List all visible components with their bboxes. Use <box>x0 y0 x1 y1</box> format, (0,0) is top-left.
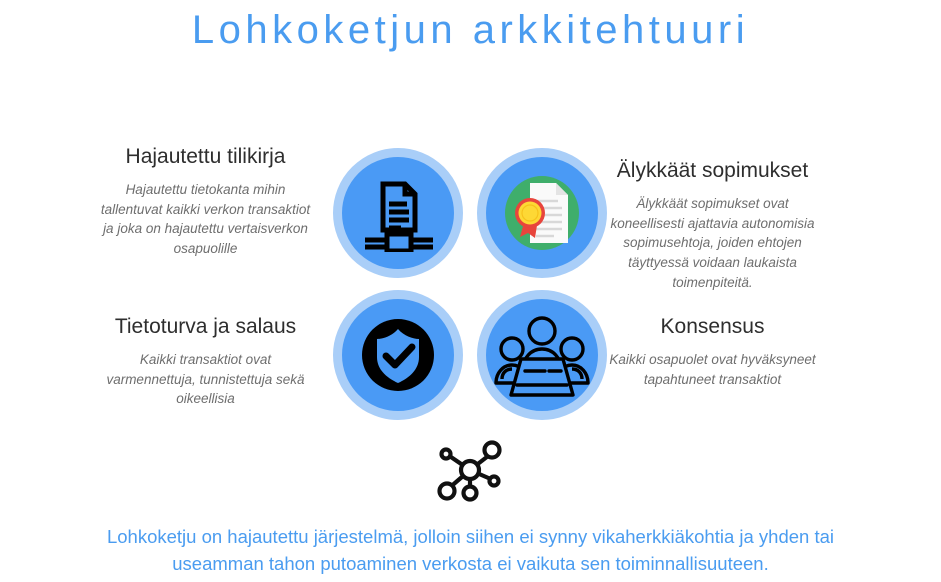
icon-circle-distributed-ledger <box>333 148 463 278</box>
shield-check-icon <box>352 309 444 401</box>
network-hub-icon <box>434 437 507 502</box>
feature-heading: Konsensus <box>605 312 820 342</box>
feature-heading: Hajautettu tilikirja <box>98 142 313 172</box>
feature-heading: Tietoturva ja salaus <box>98 312 313 342</box>
meeting-table-icon <box>494 309 590 401</box>
feature-consensus: Konsensus Kaikki osapuolet ovat hyväksyn… <box>605 312 820 389</box>
feature-description: Kaikki osapuolet ovat hyväksyneet tapaht… <box>605 350 820 389</box>
feature-security-encryption: Tietoturva ja salaus Kaikki transaktiot … <box>98 312 313 409</box>
feature-distributed-ledger: Hajautettu tilikirja Hajautettu tietokan… <box>98 142 313 259</box>
document-network-icon <box>359 174 437 252</box>
feature-description: Kaikki transaktiot ovat varmennettuja, t… <box>98 350 313 409</box>
feature-grid: Hajautettu tilikirja Hajautettu tietokan… <box>0 140 941 430</box>
feature-heading: Älykkäät sopimukset <box>605 156 820 186</box>
footer-caption: Lohkoketju on hajautettu järjestelmä, jo… <box>70 524 871 578</box>
icon-circle-security-encryption <box>333 290 463 420</box>
certificate-seal-icon <box>492 163 592 263</box>
feature-smart-contracts: Älykkäät sopimukset Älykkäät sopimukset … <box>605 156 820 292</box>
feature-description: Älykkäät sopimukset ovat koneellisesti a… <box>605 194 820 293</box>
page-title: Lohkoketjun arkkitehtuuri <box>0 8 941 53</box>
icon-circle-smart-contracts <box>477 148 607 278</box>
icon-circle-consensus <box>477 290 607 420</box>
feature-description: Hajautettu tietokanta mihin tallentuvat … <box>98 180 313 259</box>
